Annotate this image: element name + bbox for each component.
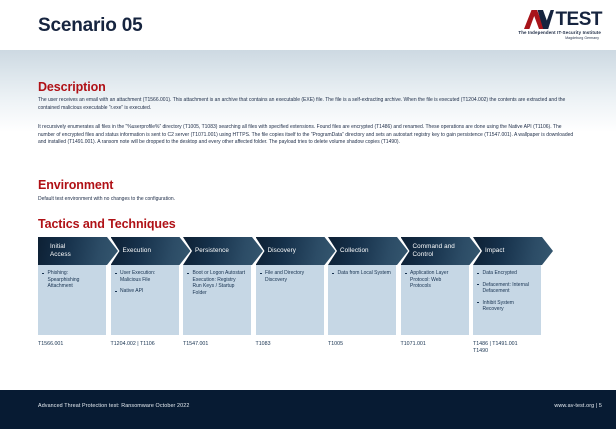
av-test-logo: TEST The Independent IT-Security Institu… <box>490 9 602 43</box>
technique-cell: Data from Local System <box>328 265 396 335</box>
tactics-and-techniques-heading: Tactics and Techniques <box>38 217 176 231</box>
tactic-name: Command andControl <box>413 237 475 265</box>
logo-wordmark: TEST <box>555 11 602 29</box>
technique-list: Data from Local System <box>332 270 391 277</box>
tactic-name: Execution <box>123 237 185 265</box>
technique-cell: Boot or Logon Autostart Execution: Regis… <box>183 265 251 335</box>
tactic-name: Impact <box>485 237 547 265</box>
tactic-name: Collection <box>340 237 402 265</box>
tactic-chevron-header: InitialAccess <box>38 237 118 265</box>
footer-url-and-page: www.av-test.org | 5 <box>554 403 602 409</box>
technique-cell: Phishing: Spearphishing Attachment <box>38 265 106 335</box>
tactic-chevron-header: Persistence <box>183 237 263 265</box>
technique-cell: User Execution: Malicious FileNative API <box>111 265 179 335</box>
technique-item: Boot or Logon Autostart Execution: Regis… <box>187 270 246 296</box>
technique-ids: T1083 <box>256 341 332 348</box>
tactic-column: Command andControlApplication Layer Prot… <box>401 237 469 372</box>
technique-list: Data EncryptedDefacement: Internal Defac… <box>477 270 536 313</box>
tactic-column: InitialAccessPhishing: Spearphishing Att… <box>38 237 106 372</box>
logo-tagline: The Independent IT-Security Institute <box>490 30 602 35</box>
page-title: Scenario 05 <box>38 15 142 37</box>
tactic-chevron-header: Collection <box>328 237 408 265</box>
technique-ids: T1005 <box>328 341 404 348</box>
tactic-name: InitialAccess <box>50 237 112 265</box>
tactic-column: DiscoveryFile and Directory DiscoveryT10… <box>256 237 324 372</box>
technique-item: Inhibit System Recovery <box>477 300 536 313</box>
tactic-name: Persistence <box>195 237 257 265</box>
technique-list: Phishing: Spearphishing Attachment <box>42 270 101 290</box>
technique-ids: T1566.001 <box>38 341 114 348</box>
technique-item: File and Directory Discovery <box>260 270 319 283</box>
technique-cell: Application Layer Protocol: Web Protocol… <box>401 265 469 335</box>
technique-cell: File and Directory Discovery <box>256 265 324 335</box>
tactic-chevron-header: Command andControl <box>401 237 481 265</box>
logo-city: Magdeburg Germany <box>490 36 602 40</box>
environment-text: Default test environment with no changes… <box>38 196 578 204</box>
technique-item: Native API <box>115 288 174 295</box>
technique-list: Boot or Logon Autostart Execution: Regis… <box>187 270 246 296</box>
technique-ids: T1204.002 | T1106 <box>111 341 187 348</box>
description-paragraph-1: The user receives an email with an attac… <box>38 97 578 112</box>
technique-ids: T1486 | T1491.001T1490 <box>473 341 549 355</box>
tactic-chevron-header: Execution <box>111 237 191 265</box>
technique-item: Defacement: Internal Defacement <box>477 282 536 295</box>
tactic-column: PersistenceBoot or Logon Autostart Execu… <box>183 237 251 372</box>
tactic-column: CollectionData from Local SystemT1005 <box>328 237 396 372</box>
tactic-column: ExecutionUser Execution: Malicious FileN… <box>111 237 179 372</box>
tactic-name: Discovery <box>268 237 330 265</box>
page-content: Description The user receives an email w… <box>0 50 616 390</box>
description-heading: Description <box>38 80 106 94</box>
tactics-table: InitialAccessPhishing: Spearphishing Att… <box>38 237 583 372</box>
tactic-column: ImpactData EncryptedDefacement: Internal… <box>473 237 541 372</box>
tactic-chevron-header: Impact <box>473 237 553 265</box>
technique-item: Data from Local System <box>332 270 391 277</box>
technique-ids: T1071.001 <box>401 341 477 348</box>
technique-cell: Data EncryptedDefacement: Internal Defac… <box>473 265 541 335</box>
technique-list: Application Layer Protocol: Web Protocol… <box>405 270 464 290</box>
technique-item: Data Encrypted <box>477 270 536 277</box>
page-header: Scenario 05 TEST The Independent IT-Secu… <box>0 0 616 50</box>
technique-ids: T1547.001 <box>183 341 259 348</box>
tactic-chevron-header: Discovery <box>256 237 336 265</box>
technique-list: User Execution: Malicious FileNative API <box>115 270 174 295</box>
technique-list: File and Directory Discovery <box>260 270 319 283</box>
footer-test-name: Advanced Threat Protection test: Ransomw… <box>38 403 189 409</box>
environment-heading: Environment <box>38 178 113 192</box>
page-footer: Advanced Threat Protection test: Ransomw… <box>0 390 616 429</box>
technique-item: Application Layer Protocol: Web Protocol… <box>405 270 464 290</box>
description-paragraph-2: It recursively enumerates all files in t… <box>38 124 578 147</box>
av-logo-mark-icon <box>524 10 554 29</box>
technique-item: Phishing: Spearphishing Attachment <box>42 270 101 290</box>
technique-item: User Execution: Malicious File <box>115 270 174 283</box>
